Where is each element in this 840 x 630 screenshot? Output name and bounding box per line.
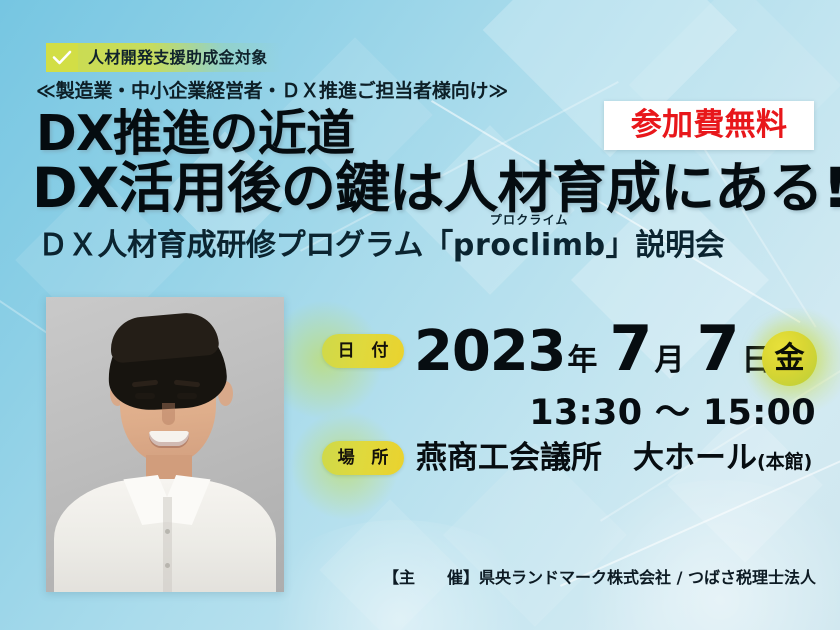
time-value: 13:30 〜 15:00 <box>529 396 816 431</box>
date-year: 2023 <box>414 324 565 380</box>
date-label: 日 付 <box>332 343 394 360</box>
photo-smile <box>149 431 189 446</box>
place-label: 場 所 <box>332 450 394 467</box>
subtitle-before: ＤＸ人材育成研修プログラム「 <box>38 231 453 261</box>
photo-nose <box>162 403 175 425</box>
date-year-unit: 年 <box>567 346 597 376</box>
weekday-label: 金 <box>775 344 805 374</box>
date-month-unit: 月 <box>655 346 685 376</box>
subsidy-badge: 人材開発支援助成金対象 <box>46 43 282 72</box>
subtitle-after: 」説明会 <box>606 231 725 261</box>
headline-line-2: DX活用後の鍵は人材育成にある! <box>32 161 840 216</box>
target-audience-line: ≪製造業・中小企業経営者・ＤＸ推進ご担当者様向け≫ <box>36 82 508 101</box>
free-participation-label: 参加費無料 <box>631 110 788 141</box>
free-participation-badge: 参加費無料 <box>604 101 814 150</box>
place-note: (本館) <box>757 453 812 472</box>
date-label-pill: 日 付 <box>322 334 404 368</box>
photo-eye <box>135 393 155 399</box>
bg-glow <box>560 480 840 630</box>
program-ruby: プロクライム <box>490 214 569 226</box>
subsidy-badge-label: 人材開発支援助成金対象 <box>78 50 282 66</box>
bg-diamond <box>319 499 460 630</box>
photo-shirt-placket <box>163 497 172 592</box>
check-icon <box>46 43 78 72</box>
subtitle: ＤＸ人材育成研修プログラム「 プロクライム proclimb 」説明会 <box>38 231 724 261</box>
speaker-photo <box>46 297 284 592</box>
organizer-line: 【主 催】県央ランドマーク株式会社 / つばさ税理士法人 <box>383 570 816 586</box>
seminar-banner: 人材開発支援助成金対象 ≪製造業・中小企業経営者・ＤＸ推進ご担当者様向け≫ DX… <box>0 0 840 630</box>
date-value: 2023 年 7 月 7 日 <box>414 318 774 382</box>
date-month: 7 <box>609 318 652 380</box>
headline-line-1: DX推進の近道 <box>36 109 354 158</box>
date-day: 7 <box>697 318 740 380</box>
program-name-with-ruby: プロクライム proclimb <box>453 231 606 261</box>
photo-eye <box>177 393 197 399</box>
place-label-pill: 場 所 <box>322 441 404 475</box>
place-value: 燕商工会議所 大ホール (本館) <box>416 443 812 474</box>
weekday-badge: 金 <box>762 331 817 386</box>
photo-shirt-button <box>165 529 170 534</box>
program-name: proclimb <box>453 231 606 261</box>
place-name: 燕商工会議所 大ホール <box>416 443 757 474</box>
photo-shirt-button <box>165 563 170 568</box>
